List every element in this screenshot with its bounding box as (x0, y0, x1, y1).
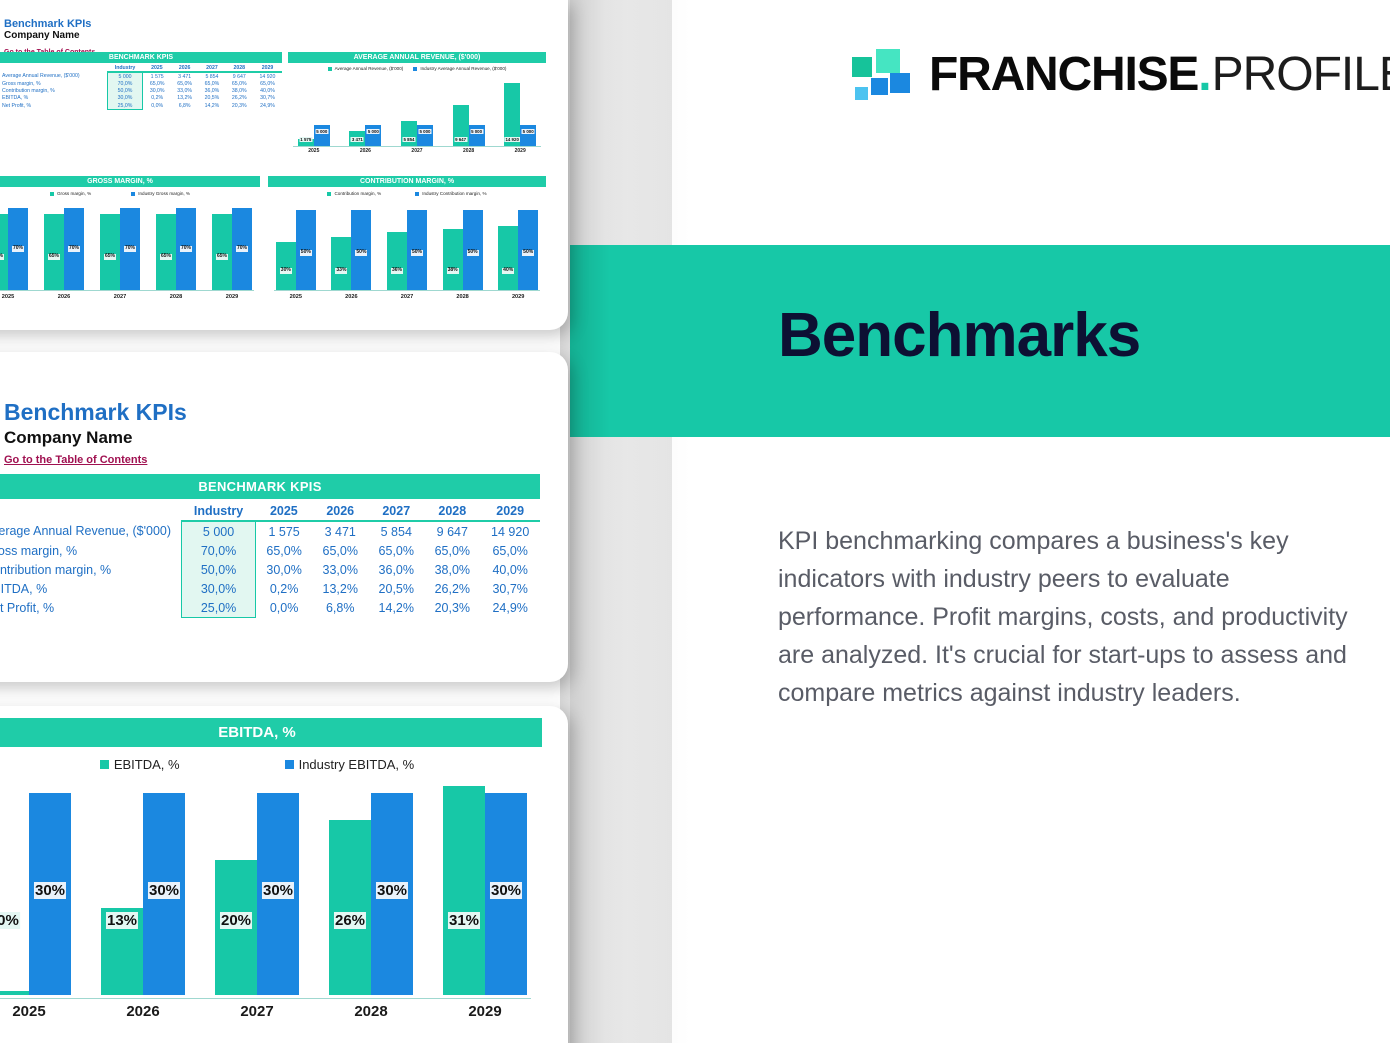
category-label: 2025 (12, 1003, 45, 1020)
table-cell: 20,3% (424, 598, 480, 618)
row-label: Contribution margin, % (0, 88, 107, 95)
category-label: 2028 (456, 294, 468, 300)
row-label: Net Profit, % (0, 102, 107, 110)
category-label: 2029 (512, 294, 524, 300)
chart-group: 13%30%2026 (86, 776, 200, 1020)
page-title: Benchmarks (778, 305, 1140, 367)
bar-series-industry: 5 000 (469, 125, 485, 146)
table-cell: 14 920 (480, 521, 540, 541)
bar-series-industry: 5 000 (365, 125, 381, 146)
table-cell: 6,8% (171, 102, 198, 110)
bar-series-industry: 50% (351, 210, 371, 290)
category-label: 2028 (170, 294, 182, 300)
table-cell: 30,0% (143, 88, 171, 95)
table-cell: 26,2% (424, 579, 480, 598)
sheet-header-large: Benchmark KPIs Company Name Go to the Ta… (4, 398, 187, 468)
legend-item-series1: EBITDA, % (100, 757, 180, 772)
table-cell: 14,2% (368, 598, 424, 618)
bar-series-industry: 70% (176, 208, 196, 290)
table-of-contents-link[interactable]: Go to the Table of Contents (4, 454, 147, 466)
panel-gross-margin-mini: GROSS MARGIN, % Gross margin, % Industry… (0, 176, 260, 316)
category-label: 2027 (401, 294, 413, 300)
bar-value-label: 70% (68, 246, 80, 252)
bar-series-company: 5 854 (401, 121, 417, 146)
table-cell: 9 647 (226, 72, 253, 80)
legend-swatch-blue-icon (413, 67, 417, 71)
panel-title-gross: GROSS MARGIN, % (0, 176, 260, 187)
category-label: 2029 (226, 294, 238, 300)
bar-series-industry: 50% (518, 210, 538, 290)
table-row: Gross margin, %70,0%65,0%65,0%65,0%65,0%… (0, 80, 282, 87)
category-label: 2029 (515, 148, 526, 154)
bar-series-company: 65% (100, 214, 120, 290)
table-row: Contribution margin, %50,0%30,0%33,0%36,… (0, 560, 540, 579)
column-header: 2026 (171, 64, 198, 72)
bar-value-label: 50% (522, 250, 534, 256)
table-row: Average Annual Revenue, ($'000)5 0001 57… (0, 521, 540, 541)
column-header: 2025 (256, 501, 313, 521)
chart-ebitda: 0%30%202513%30%202620%30%202726%30%20283… (0, 776, 542, 1043)
table-cell: 13,2% (312, 579, 368, 598)
bar-value-label: 70% (236, 246, 248, 252)
table-cell: 20,5% (368, 579, 424, 598)
bar-series-industry: 70% (8, 208, 28, 290)
column-header: 2029 (253, 64, 282, 72)
dashboard-card-overview: Benchmark KPIs Company Name Go to the Ta… (0, 0, 568, 330)
table-row: Contribution margin, %50,0%30,0%33,0%36,… (0, 88, 282, 95)
bar-value-label: 65% (48, 254, 60, 260)
table-cell: 3 471 (312, 521, 368, 541)
chart-gross-margin-mini: 65%70%202565%70%202665%70%202765%70%2028… (0, 202, 260, 314)
table-row: Average Annual Revenue, ($'000)5 0001 57… (0, 72, 282, 80)
bar-series-company: 65% (156, 214, 176, 290)
dashboard-card-kpi-table: Benchmark KPIs Company Name Go to the Ta… (0, 352, 568, 682)
category-label: 2028 (463, 148, 474, 154)
bar-series-industry: 50% (463, 210, 483, 290)
table-cell: 1 575 (256, 521, 313, 541)
bar-series-industry: 50% (296, 210, 316, 290)
chart-average-annual-revenue-mini: 1 5755 00020253 4715 00020265 8545 00020… (288, 78, 546, 172)
bar-series-company: 30% (276, 242, 296, 290)
legend-label: EBITDA, % (114, 757, 180, 772)
column-header: Industry (182, 501, 256, 521)
bar-value-label: 50% (411, 250, 423, 256)
bar-series-industry: 70% (232, 208, 252, 290)
panel-contribution-margin-mini: CONTRIBUTION MARGIN, % Contribution marg… (268, 176, 546, 316)
chart-group: 0%30%2025 (0, 776, 86, 1020)
bar-series-industry: 70% (64, 208, 84, 290)
bar-value-label: 31% (448, 912, 480, 929)
chart-group: 20%30%2027 (200, 776, 314, 1020)
column-header: Industry (107, 64, 143, 72)
hero-description: KPI benchmarking compares a business's k… (778, 522, 1358, 712)
legend-label: Industry EBITDA, % (299, 757, 415, 772)
table-cell: 65,0% (368, 541, 424, 560)
table-cell: 65,0% (226, 80, 253, 87)
bar-series-company: 14 920 (504, 83, 520, 146)
chart-group: 31%30%2029 (428, 776, 542, 1020)
industry-cell: 5 000 (107, 72, 143, 80)
table-row: Net Profit, %25,0%0,0%6,8%14,2%20,3%24,9… (0, 102, 282, 110)
legend-item-series2: Industry Average Annual Revenue, ($'000) (413, 66, 506, 71)
table-cell: 26,2% (226, 95, 253, 102)
legend-swatch-teal-icon (327, 192, 331, 196)
table-cell: 24,9% (480, 598, 540, 618)
row-label: Gross margin, % (0, 541, 182, 560)
table-cell: 33,0% (171, 88, 198, 95)
bar-series-industry: 5 000 (314, 125, 330, 146)
table-cell: 20,5% (198, 95, 225, 102)
bar-series-company: 3 471 (349, 131, 365, 146)
bar-value-label: 1 575 (299, 137, 312, 142)
table-row: EBITDA, %30,0%0,2%13,2%20,5%26,2%30,7% (0, 95, 282, 102)
panel-title-ebitda: EBITDA, % (0, 718, 542, 747)
hero-banner-shadow (570, 245, 610, 437)
table-cell: 0,2% (143, 95, 171, 102)
benchmark-kpi-table: Industry20252026202720282029Average Annu… (0, 501, 540, 618)
table-cell: 40,0% (253, 88, 282, 95)
row-label: Gross margin, % (0, 80, 107, 87)
category-label: 2026 (345, 294, 357, 300)
legend-item-series1: Average Annual Revenue, ($'000) (328, 66, 404, 71)
bar-value-label: 65% (104, 254, 116, 260)
bar-value-label: 20% (220, 912, 252, 929)
legend-swatch-blue-icon (131, 192, 135, 196)
bar-value-label: 38% (447, 268, 459, 274)
bar-series-company: 65% (212, 214, 232, 290)
category-label: 2028 (354, 1003, 387, 1020)
table-cell: 6,8% (312, 598, 368, 618)
bar-series-company: 65% (0, 214, 8, 290)
panel-title-kpi: BENCHMARK KPIS (0, 474, 540, 499)
bar-value-label: 65% (216, 254, 228, 260)
category-label: 2025 (308, 148, 319, 154)
table-cell: 65,0% (480, 541, 540, 560)
table-cell: 20,3% (226, 102, 253, 110)
logo-word-profiles: PROFILES (1212, 48, 1390, 101)
row-label: Average Annual Revenue, ($'000) (0, 72, 107, 80)
legend-contribution-margin: Contribution margin, % Industry Contribu… (268, 191, 546, 196)
panel-title-revenue: AVERAGE ANNUAL REVENUE, ($'000) (288, 52, 546, 63)
legend-swatch-teal-icon (100, 760, 109, 769)
bar-value-label: 36% (391, 268, 403, 274)
category-label: 2027 (114, 294, 126, 300)
chart-group: 65%70%2025 (0, 202, 36, 304)
table-cell: 24,9% (253, 102, 282, 110)
bar-value-label: 65% (160, 254, 172, 260)
bar-series-industry: 30% (143, 793, 185, 995)
legend-swatch-blue-icon (415, 192, 419, 196)
legend-label: Industry Contribution margin, % (422, 191, 486, 196)
bar-value-label: 14 920 (504, 137, 519, 142)
panel-title-contrib: CONTRIBUTION MARGIN, % (268, 176, 546, 187)
industry-cell: 5 000 (182, 521, 256, 541)
industry-cell: 50,0% (107, 88, 143, 95)
bar-value-label: 5 000 (367, 129, 380, 134)
bar-value-label: 70% (124, 246, 136, 252)
chart-contribution-margin-mini: 30%50%202533%50%202636%50%202738%50%2028… (268, 202, 546, 314)
table-row: Net Profit, %25,0%0,0%6,8%14,2%20,3%24,9… (0, 598, 540, 618)
column-header: 2027 (368, 501, 424, 521)
chart-group: 33%50%2026 (324, 202, 380, 304)
bar-series-company: 38% (443, 229, 463, 290)
legend-item-series1: Gross margin, % (50, 191, 91, 196)
category-label: 2029 (468, 1003, 501, 1020)
column-header: 2028 (226, 64, 253, 72)
bar-series-industry: 50% (407, 210, 427, 290)
bar-series-company: 40% (498, 226, 518, 290)
category-label: 2025 (290, 294, 302, 300)
bar-value-label: 30% (490, 882, 522, 899)
chart-group: 36%50%2027 (379, 202, 435, 304)
bar-value-label: 30% (148, 882, 180, 899)
bar-value-label: 70% (12, 246, 24, 252)
bar-series-industry: 30% (485, 793, 527, 995)
bar-series-company: 33% (331, 237, 351, 290)
background-gray-band (570, 0, 672, 1043)
legend-item-series2: Industry Contribution margin, % (415, 191, 486, 196)
category-label: 2025 (2, 294, 14, 300)
column-header: 2029 (480, 501, 540, 521)
table-row: Gross margin, %70,0%65,0%65,0%65,0%65,0%… (0, 541, 540, 560)
table-cell: 65,0% (424, 541, 480, 560)
category-label: 2026 (360, 148, 371, 154)
industry-cell: 25,0% (107, 102, 143, 110)
bar-value-label: 50% (467, 250, 479, 256)
sheet-company: Company Name (4, 426, 187, 450)
table-cell: 65,0% (253, 80, 282, 87)
industry-cell: 30,0% (182, 579, 256, 598)
bar-series-company: 26% (329, 820, 371, 995)
industry-cell: 70,0% (182, 541, 256, 560)
chart-group: 30%50%2025 (268, 202, 324, 304)
logo-dot-icon: . (1198, 48, 1211, 101)
bar-series-industry: 30% (29, 793, 71, 995)
bar-value-label: 30% (376, 882, 408, 899)
bar-series-industry: 30% (257, 793, 299, 995)
bar-series-industry: 5 000 (417, 125, 433, 146)
dashboard-card-ebitda: EBITDA, % EBITDA, % Industry EBITDA, % 0… (0, 706, 568, 1043)
category-label: 2027 (411, 148, 422, 154)
category-label: 2026 (126, 1003, 159, 1020)
industry-cell: 70,0% (107, 80, 143, 87)
bar-series-company: 1 575 (298, 139, 314, 146)
bar-value-label: 13% (106, 912, 138, 929)
industry-cell: 25,0% (182, 598, 256, 618)
table-cell: 65,0% (171, 80, 198, 87)
brand-logo: FRANCHISE.PROFILES (851, 42, 1351, 112)
table-cell: 5 854 (198, 72, 225, 80)
panel-title: BENCHMARK KPIS (0, 52, 282, 63)
row-label: Net Profit, % (0, 598, 182, 618)
table-row: EBITDA, %30,0%0,2%13,2%20,5%26,2%30,7% (0, 579, 540, 598)
bar-series-company: 13% (101, 908, 143, 995)
bar-series-industry: 70% (120, 208, 140, 290)
column-header: 2026 (312, 501, 368, 521)
bar-series-company: 9 647 (453, 105, 469, 146)
table-cell: 14,2% (198, 102, 225, 110)
bar-value-label: 5 854 (402, 137, 415, 142)
chart-group: 40%50%2029 (490, 202, 546, 304)
row-label: Average Annual Revenue, ($'000) (0, 521, 182, 541)
column-header: 2025 (143, 64, 171, 72)
bar-series-industry: 5 000 (520, 125, 536, 146)
table-cell: 13,2% (171, 95, 198, 102)
legend-revenue: Average Annual Revenue, ($'000) Industry… (288, 66, 546, 71)
legend-swatch-teal-icon (328, 67, 332, 71)
sheet-title: Benchmark KPIs (4, 18, 95, 30)
bar-value-label: 33% (335, 268, 347, 274)
bar-series-company: 65% (44, 214, 64, 290)
column-header: 2028 (424, 501, 480, 521)
bar-series-company: 20% (215, 860, 257, 995)
table-cell: 3 471 (171, 72, 198, 80)
column-header: 2027 (198, 64, 225, 72)
legend-gross-margin: Gross margin, % Industry Gross margin, % (0, 191, 260, 196)
table-header-row: Industry20252026202720282029 (0, 64, 282, 72)
table-cell: 5 854 (368, 521, 424, 541)
legend-label: Gross margin, % (57, 191, 91, 196)
logo-word-franchise: FRANCHISE (929, 48, 1198, 101)
legend-swatch-blue-icon (285, 760, 294, 769)
row-label: Contribution margin, % (0, 560, 182, 579)
legend-item-series2: Industry EBITDA, % (285, 757, 415, 772)
legend-label: Contribution margin, % (334, 191, 381, 196)
row-label: EBITDA, % (0, 579, 182, 598)
legend-item-series2: Industry Gross margin, % (131, 191, 190, 196)
benchmark-kpi-table-mini: Industry20252026202720282029Average Annu… (0, 64, 282, 110)
table-cell: 30,0% (256, 560, 313, 579)
table-cell: 0,0% (143, 102, 171, 110)
table-cell: 65,0% (312, 541, 368, 560)
bar-value-label: 0% (0, 912, 20, 929)
bar-value-label: 50% (355, 250, 367, 256)
bar-value-label: 50% (300, 250, 312, 256)
bar-series-company: 31% (443, 786, 485, 995)
table-cell: 65,0% (143, 80, 171, 87)
table-cell: 38,0% (424, 560, 480, 579)
chart-group: 65%70%2029 (204, 202, 260, 304)
panel-benchmark-kpis-large: BENCHMARK KPIS Industry20252026202720282… (0, 474, 540, 618)
table-cell: 1 575 (143, 72, 171, 80)
bar-series-industry: 30% (371, 793, 413, 995)
table-cell: 30,7% (253, 95, 282, 102)
table-cell: 40,0% (480, 560, 540, 579)
chart-group: 65%70%2026 (36, 202, 92, 304)
table-cell: 36,0% (368, 560, 424, 579)
bar-value-label: 30% (34, 882, 66, 899)
bar-value-label: 26% (334, 912, 366, 929)
table-cell: 36,0% (198, 88, 225, 95)
bar-value-label: 5 000 (418, 129, 431, 134)
bar-value-label: 65% (0, 254, 4, 260)
table-cell: 14 920 (253, 72, 282, 80)
legend-label: Average Annual Revenue, ($'000) (335, 66, 404, 71)
bar-value-label: 5 000 (522, 129, 535, 134)
legend-item-series1: Contribution margin, % (327, 191, 381, 196)
legend-swatch-teal-icon (50, 192, 54, 196)
bar-series-company: 0% (0, 991, 29, 995)
bar-value-label: 3 471 (351, 137, 364, 142)
bar-value-label: 5 000 (470, 129, 483, 134)
bar-series-company: 36% (387, 232, 407, 290)
bar-value-label: 70% (180, 246, 192, 252)
sheet-company: Company Name (4, 30, 95, 41)
legend-label: Industry Average Annual Revenue, ($'000) (420, 66, 506, 71)
logo-wordmark: FRANCHISE.PROFILES (929, 44, 1390, 106)
bar-value-label: 40% (502, 268, 514, 274)
category-label: 2026 (58, 294, 70, 300)
table-cell: 0,2% (256, 579, 313, 598)
row-label: EBITDA, % (0, 95, 107, 102)
table-header-row: Industry20252026202720282029 (0, 501, 540, 521)
table-cell: 65,0% (198, 80, 225, 87)
panel-benchmark-kpis-mini: BENCHMARK KPIS Industry20252026202720282… (0, 52, 282, 110)
chart-group: 65%70%2027 (92, 202, 148, 304)
industry-cell: 50,0% (182, 560, 256, 579)
panel-average-annual-revenue-mini: AVERAGE ANNUAL REVENUE, ($'000) Average … (288, 52, 546, 172)
table-cell: 33,0% (312, 560, 368, 579)
panel-ebitda: EBITDA, % EBITDA, % Industry EBITDA, % 0… (0, 718, 542, 1043)
industry-cell: 30,0% (107, 95, 143, 102)
logo-squares-icon (851, 48, 919, 104)
bar-value-label: 9 647 (454, 137, 467, 142)
table-cell: 38,0% (226, 88, 253, 95)
bar-value-label: 5 000 (315, 129, 328, 134)
sheet-title: Benchmark KPIs (4, 398, 187, 426)
bar-value-label: 30% (262, 882, 294, 899)
category-label: 2027 (240, 1003, 273, 1020)
legend-ebitda: EBITDA, % Industry EBITDA, % (0, 757, 542, 772)
bar-value-label: 30% (280, 268, 292, 274)
table-cell: 65,0% (256, 541, 313, 560)
table-cell: 0,0% (256, 598, 313, 618)
chart-group: 26%30%2028 (314, 776, 428, 1020)
legend-label: Industry Gross margin, % (138, 191, 190, 196)
chart-group: 65%70%2028 (148, 202, 204, 304)
table-cell: 30,7% (480, 579, 540, 598)
table-cell: 9 647 (424, 521, 480, 541)
chart-group: 38%50%2028 (435, 202, 491, 304)
